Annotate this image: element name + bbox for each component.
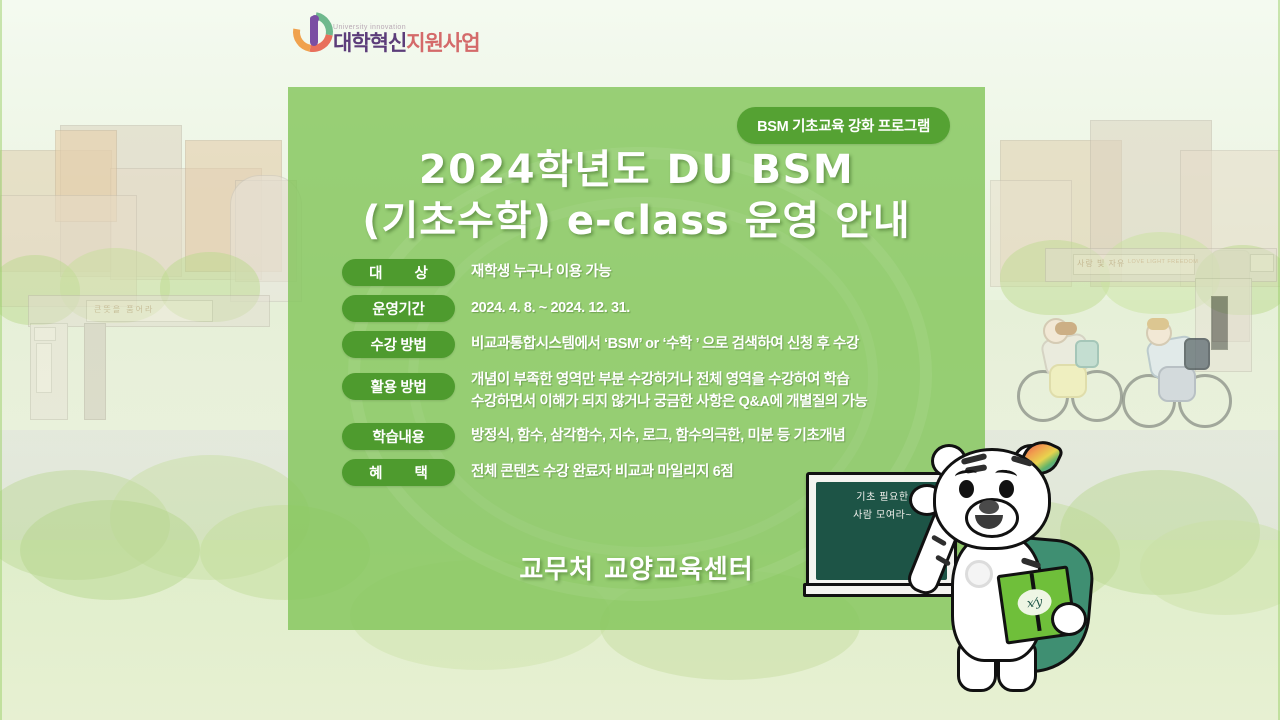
info-row-value-line: 방정식, 함수, 삼각함수, 지수, 로그, 함수의극한, 미분 등 기초개념 [471, 426, 845, 448]
gate-right-text-en: LOVE LIGHT FREEDOM [1128, 259, 1198, 265]
cyclist-legs [1158, 366, 1196, 402]
cyclist-legs [1049, 364, 1087, 398]
gate-lamp [34, 327, 56, 341]
gate-pillar [84, 323, 106, 420]
info-rows: 대 상 재학생 누구나 이용 가능 운영기간 2024. 4. 8. ~ 202… [342, 259, 965, 495]
info-row-value: 개념이 부족한 영역만 부분 수강하거나 전체 영역을 수강하여 학습 수강하면… [471, 367, 868, 414]
gate-plaque [36, 343, 52, 393]
info-row: 수강 방법 비교과통합시스템에서 ‘BSM’ or ‘수학 ’ 으로 검색하여 … [342, 331, 965, 358]
logo-korean-text: 대학혁신지원사업 [333, 33, 480, 54]
info-row-value-line: 2024. 4. 8. ~ 2024. 12. 31. [471, 298, 630, 320]
title-line-1: 2024학년도 DU BSM [288, 145, 985, 196]
mascot-eye-left [959, 480, 974, 498]
info-row-value-line: 비교과통합시스템에서 ‘BSM’ or ‘수학 ’ 으로 검색하여 신청 후 수… [471, 334, 859, 356]
page-title: 2024학년도 DU BSM (기초수학) e-class 운영 안내 [288, 145, 985, 247]
info-row-label: 운영기간 [342, 295, 455, 322]
gate-right-text-kr: 사랑 빛 자유 [1077, 258, 1125, 269]
info-row-value-line: 재학생 누구나 이용 가능 [471, 262, 611, 284]
logo-english-text: University innovation [333, 24, 480, 31]
program-badge: BSM 기초교육 강화 프로그램 [737, 107, 950, 144]
info-row-label: 대 상 [342, 259, 455, 286]
logo-korean-part2: 지원사업 [406, 32, 479, 55]
mascot-medal-icon [965, 560, 993, 588]
info-row: 대 상 재학생 누구나 이용 가능 [342, 259, 965, 286]
campus-gate-left: 큰뜻을 품어라 [18, 295, 273, 420]
cyclist-back [1120, 320, 1235, 428]
info-row: 활용 방법 개념이 부족한 영역만 부분 수강하거나 전체 영역을 수강하여 학… [342, 367, 965, 414]
cyclist-backpack [1075, 340, 1099, 368]
bush [20, 500, 200, 600]
info-row-value-line: 전체 콘텐츠 수강 완료자 비교과 마일리지 6점 [471, 462, 733, 484]
poster: 큰뜻을 품어라 사랑 빛 자유 LOVE LIGHT FREEDOM [0, 0, 1280, 720]
book-label: x⁄y [1016, 587, 1053, 617]
info-row-value: 2024. 4. 8. ~ 2024. 12. 31. [471, 295, 630, 320]
info-row-value-line: 개념이 부족한 영역만 부분 수강하거나 전체 영역을 수강하여 학습 [471, 370, 868, 392]
left-edge-line [0, 0, 2, 720]
cyclist-hair [1147, 318, 1169, 330]
gate-left-text: 큰뜻을 품어라 [94, 304, 154, 315]
info-row-value: 전체 콘텐츠 수강 완료자 비교과 마일리지 6점 [471, 459, 733, 484]
info-row: 학습내용 방정식, 함수, 삼각함수, 지수, 로그, 함수의극한, 미분 등 … [342, 423, 965, 450]
info-row-value-line: 수강하면서 이해가 되지 않거나 궁금한 사항은 Q&A에 개별질의 가능 [471, 392, 868, 414]
logo-j-dot-icon [311, 15, 319, 23]
mascot-eye-right [999, 480, 1014, 498]
logo-mark-icon [293, 16, 327, 54]
cyclist-front [1015, 318, 1125, 423]
info-row: 운영기간 2024. 4. 8. ~ 2024. 12. 31. [342, 295, 965, 322]
gate-lamp [1250, 254, 1274, 272]
info-row-label: 학습내용 [342, 423, 455, 450]
info-row-label: 수강 방법 [342, 331, 455, 358]
info-row-value: 방정식, 함수, 삼각함수, 지수, 로그, 함수의극한, 미분 등 기초개념 [471, 423, 845, 448]
mascot-hand [1051, 602, 1087, 636]
mascot-nose [979, 500, 999, 514]
tiger-mascot: x⁄y [905, 442, 1120, 710]
university-innovation-logo: University innovation 대학혁신지원사업 [293, 16, 480, 54]
cyclist-backpack [1184, 338, 1210, 370]
logo-korean-part1: 대학혁신 [333, 32, 406, 55]
info-row-label: 혜 택 [342, 459, 455, 486]
info-row-value: 재학생 누구나 이용 가능 [471, 259, 611, 284]
info-row-value: 비교과통합시스템에서 ‘BSM’ or ‘수학 ’ 으로 검색하여 신청 후 수… [471, 331, 859, 356]
logo-text: University innovation 대학혁신지원사업 [333, 24, 480, 54]
cyclist-hair [1055, 322, 1077, 335]
title-line-2: (기초수학) e-class 운영 안내 [288, 196, 985, 247]
info-row-label: 활용 방법 [342, 373, 455, 400]
